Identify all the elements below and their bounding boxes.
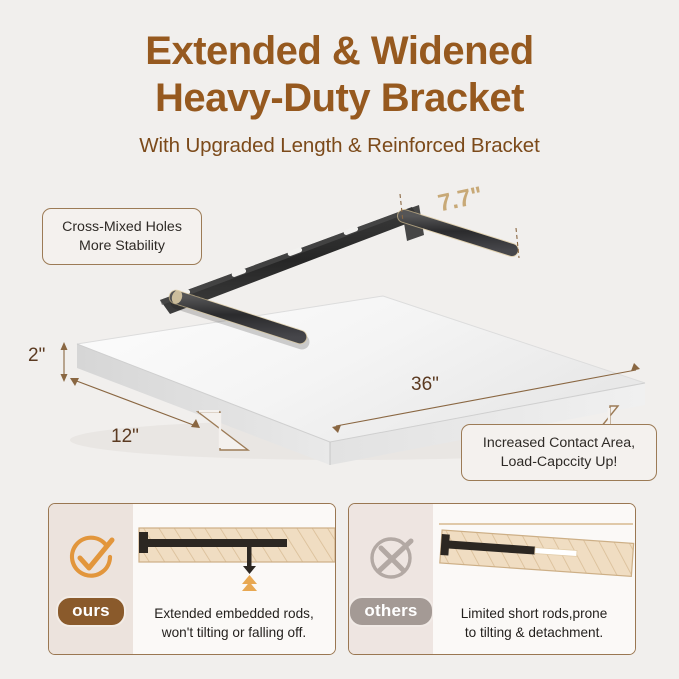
comparison-section: ours: [0, 503, 679, 663]
page-title-line-1: Extended & Widened: [0, 28, 679, 75]
callout-holes-line-1: Cross-Mixed Holes: [54, 218, 190, 237]
others-caption: Limited short rods,prone to tilting & de…: [433, 605, 635, 642]
callout-holes-tail: [196, 410, 256, 458]
ours-embedded-rod: [141, 539, 287, 547]
others-wood-slab-group: [440, 530, 634, 576]
callout-increased-contact-area: Increased Contact Area, Load-Capccity Up…: [461, 424, 657, 481]
others-rod-plate: [440, 534, 449, 556]
check-circle-icon: [65, 532, 117, 584]
ours-badge: ours: [56, 596, 126, 627]
ours-wood-diagram: [133, 512, 335, 594]
page-subtitle: With Upgraded Length & Reinforced Bracke…: [0, 134, 679, 158]
others-wood-diagram: [433, 512, 635, 594]
ours-caption-line-1: Extended embedded rods,: [139, 605, 329, 623]
others-badge-column: others: [349, 504, 433, 654]
ours-badge-column: ours: [49, 504, 133, 654]
callout-contact-line-1: Increased Contact Area,: [473, 434, 645, 453]
ours-pin-head: [243, 566, 256, 574]
comparison-panel-others: others: [348, 503, 636, 655]
guide-12in-arrow-a: [70, 378, 79, 386]
others-caption-line-1: Limited short rods,prone: [439, 605, 629, 623]
others-badge: others: [348, 596, 433, 627]
product-infographic: Extended & Widened Heavy-Duty Bracket Wi…: [0, 0, 679, 679]
guide-2in-arrow-down: [61, 374, 68, 382]
others-illustration-area: Limited short rods,prone to tilting & de…: [433, 504, 635, 654]
others-caption-line-2: to tilting & detachment.: [439, 624, 629, 642]
page-title-line-2: Heavy-Duty Bracket: [0, 75, 679, 122]
header: Extended & Widened Heavy-Duty Bracket Wi…: [0, 28, 679, 158]
x-circle-icon: [365, 532, 417, 584]
dimension-label-length: 36": [411, 374, 439, 396]
dimension-label-depth: 12": [111, 426, 139, 448]
comparison-panel-ours: ours: [48, 503, 336, 655]
ours-vertical-pin: [247, 542, 252, 568]
ours-illustration-area: Extended embedded rods, won't tilting or…: [133, 504, 335, 654]
callout-contact-line-2: Load-Capccity Up!: [473, 453, 645, 472]
ours-caption-line-2: won't tilting or falling off.: [139, 624, 329, 642]
guide-36in-arrow-b: [631, 363, 640, 371]
callout-cross-mixed-holes: Cross-Mixed Holes More Stability: [42, 208, 202, 265]
dimension-label-thickness: 2": [28, 345, 45, 367]
ours-caption: Extended embedded rods, won't tilting or…: [133, 605, 335, 642]
guide-2in-arrow-up: [61, 342, 68, 350]
others-wood-svg: [433, 512, 636, 594]
callout-holes-line-2: More Stability: [54, 237, 190, 256]
ours-rod-plate: [139, 532, 148, 553]
ours-wood-svg: [133, 512, 336, 594]
